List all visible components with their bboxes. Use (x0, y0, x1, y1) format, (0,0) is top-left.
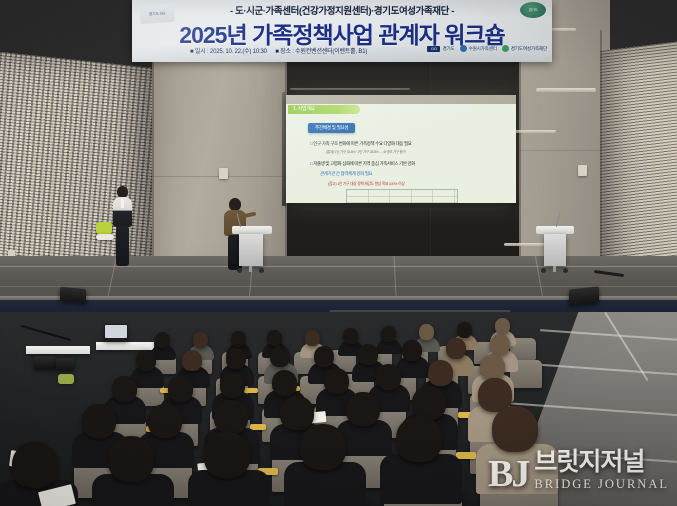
audience-chair-green (58, 374, 74, 384)
attendee-head (419, 324, 434, 340)
attendee-head (272, 370, 297, 396)
wall-seam (520, 150, 600, 151)
podium-wheel-icon (259, 268, 264, 273)
wall-seam (600, 30, 602, 292)
attendee-head (148, 404, 182, 438)
attendee-head (12, 442, 58, 488)
attendee-head (480, 354, 505, 380)
stage-grid-line (0, 266, 677, 267)
attendee-head (492, 406, 538, 452)
podium-wheel-icon (541, 268, 546, 273)
slide-section-tab: 1. 사업개요 (288, 105, 360, 114)
attendee-head (136, 350, 156, 371)
stage-monitor-speaker (569, 286, 599, 305)
attendee-head (300, 424, 346, 470)
attendee-head (376, 364, 401, 390)
banner-sponsor-name: 경기도 (442, 46, 454, 52)
watermark-korean: 브릿지저널 (534, 450, 669, 475)
laptop-monitor (104, 324, 128, 341)
attendee-head (182, 350, 202, 371)
attendee-head (343, 328, 358, 344)
wall-outlet-icon (219, 168, 228, 179)
podium-leg (249, 266, 252, 272)
podium-wheel-icon (563, 268, 568, 273)
banner-sponsor-logo: 경기도여성가족재단 (502, 45, 547, 52)
person-lanyard (121, 199, 124, 208)
wall-outlet-icon (578, 165, 587, 176)
stage-grid-line (0, 286, 677, 287)
attendee-head (457, 322, 472, 338)
stage-chair (96, 234, 114, 240)
podium-leg (553, 266, 556, 272)
podium-left (239, 234, 263, 266)
banner-sponsor-logo: 수원시가족센터 (460, 45, 497, 52)
slide-bullet: □ 인구·가족 구조 변화에 따른 가족정책 수요 다양화 대응 필요 (310, 141, 412, 147)
attendee-head (446, 338, 466, 359)
watermark-text: 브릿지저널 BRIDGE JOURNAL (534, 450, 669, 491)
stage-staff-person (112, 186, 134, 268)
attendee-head (155, 332, 170, 348)
slide-bullet-highlight: 관계기관 간 협력체계 강화 필요 (320, 171, 372, 177)
floor-speaker (56, 358, 74, 370)
banner-subtitle: - 도·시군·가족센터(건강가정지원센터)·경기도여성가족재단 - (132, 3, 552, 17)
slide-section-chip: 추진배경 및 필요성 (308, 123, 355, 133)
watermark-logo: BJ 브릿지저널 BRIDGE JOURNAL (488, 450, 669, 491)
attendee-head (220, 372, 245, 398)
floor-speaker (34, 356, 56, 369)
tech-table (96, 342, 154, 350)
attendee-head (495, 318, 510, 334)
ceiling-light-strip (290, 88, 410, 90)
stage-chair (96, 222, 112, 234)
tech-table (26, 346, 90, 354)
attendee-head (193, 332, 208, 348)
podium-right (544, 234, 566, 266)
slide-top-bar (286, 95, 516, 104)
slide-bullet: □ 저출생 및 고령화 심화에 따른 지역 중심 가족서비스 기반 강화 (310, 161, 415, 167)
watermark-english: BRIDGE JOURNAL (534, 478, 669, 491)
banner-sponsor-name: 경기도여성가족재단 (511, 46, 547, 52)
banner-sponsor-logo: GG 경기도 (427, 46, 454, 52)
attendee-head (314, 346, 334, 367)
attendee-head (226, 348, 246, 369)
attendee-head (412, 386, 446, 420)
banner-logo-row: GG 경기도 수원시가족센터 경기도여성가족재단 (427, 45, 547, 52)
bj-monogram-icon: BJ (488, 459, 528, 490)
event-banner: 경기도 GG 경기도 - 도·시군·가족센터(건강가정지원센터)·경기도여성가족… (132, 0, 552, 62)
attendee-head (402, 340, 422, 361)
banner-date: ■ 일시 : 2025. 10. 22.(수) 10:30 (190, 49, 267, 55)
laptop-screen (105, 325, 127, 338)
attendee-head (267, 330, 282, 346)
attendee-head (358, 344, 378, 365)
slide-data-table (346, 189, 458, 203)
banner-info-line: ■ 일시 : 2025. 10. 22.(수) 10:30 ■ 장소 : 수원컨… (190, 46, 374, 55)
attendee-head (108, 436, 154, 482)
slide-bullet-note: (참고) 1인 가구 대상 정책 체감도 향상 목표 100% 이상 (328, 182, 405, 187)
podium-desktop-left (232, 226, 272, 234)
stage-monitor-speaker (60, 287, 86, 303)
attendee-head (82, 404, 116, 438)
circle-green-icon (502, 45, 509, 52)
circle-blue-icon (460, 45, 467, 52)
cable-run (21, 325, 72, 341)
projection-screen: 1. 사업개요 추진배경 및 필요성 □ 인구·가족 구조 변화에 따른 가족정… (286, 95, 516, 203)
seat-armrest (244, 388, 258, 393)
attendee-head (168, 376, 193, 402)
attendee-head (490, 334, 510, 355)
attendee-head (428, 360, 453, 386)
attendee-head (280, 396, 314, 430)
workshop-photo: 경기도 GG 경기도 - 도·시군·가족센터(건강가정지원센터)·경기도여성가족… (0, 0, 677, 506)
podium-wheel-icon (237, 268, 242, 273)
attendee-head (214, 400, 248, 434)
attendee-head (346, 392, 380, 426)
slide-bullet-sub: (통계) 1인 가구 33.6% · 2인 가구 28.8% → 소규모 가구 … (326, 150, 406, 155)
attendee-head (305, 330, 320, 346)
seat-armrest (456, 452, 476, 459)
podium-desktop-right (536, 226, 574, 234)
attendee-head (112, 376, 137, 402)
person-legs (116, 226, 129, 266)
gg-mark-icon: GG (427, 46, 440, 52)
attendee-head (270, 346, 290, 367)
banner-venue: ■ 장소 : 수원컨벤션센터(이벤트홀, B1) (275, 49, 367, 55)
attendee-head (324, 368, 349, 394)
banner-sponsor-name: 수원시가족센터 (469, 46, 497, 52)
attendee-head (381, 326, 396, 342)
attendee-head (204, 432, 250, 478)
ceiling-light-strip (536, 88, 596, 92)
attendee-head (231, 331, 246, 347)
attendee-head (396, 416, 442, 462)
